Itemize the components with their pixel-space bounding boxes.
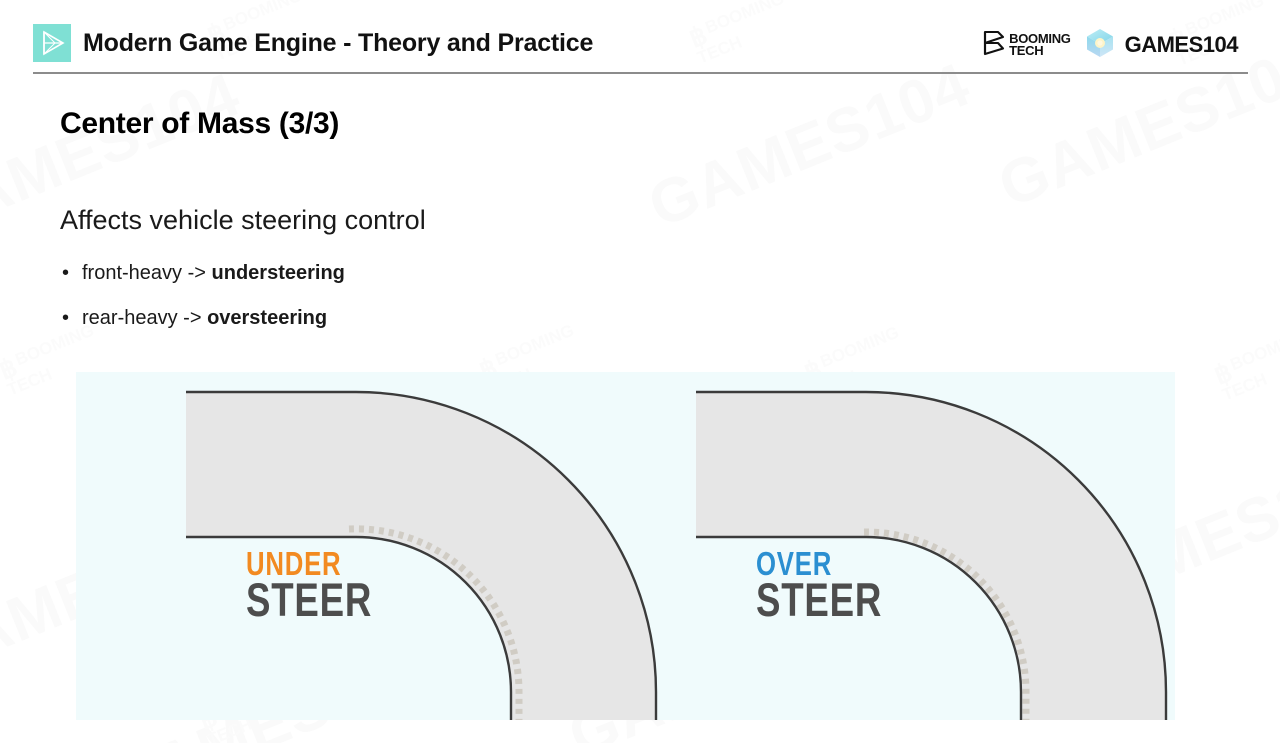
bullet-dot-icon: • [62, 308, 82, 328]
booming-tech-logo: BOOMING TECH [982, 30, 1070, 61]
games104-text: GAMES104 [1125, 32, 1238, 58]
brand-cluster: BOOMING TECH [982, 28, 1238, 62]
understeer-label: UNDER STEER [246, 550, 408, 619]
watermark-booming-mark: ฿ [0, 354, 21, 383]
list-item: • front-heavy -> understeering [62, 262, 345, 285]
watermark-games104: GAMES104 [639, 49, 980, 242]
slide-header: Modern Game Engine - Theory and Practice… [0, 0, 1280, 78]
watermark-booming-lines: BOOMINGTECH [1220, 326, 1280, 405]
list-item: • rear-heavy -> oversteering [62, 307, 345, 330]
oversteer-label: OVER STEER [756, 550, 918, 619]
list-item-text: front-heavy -> understeering [82, 262, 345, 285]
bullet-list: • front-heavy -> understeering • rear-he… [62, 262, 345, 352]
header-divider [33, 72, 1248, 74]
list-item-text: rear-heavy -> oversteering [82, 307, 327, 330]
page-title: Center of Mass (3/3) [60, 107, 339, 141]
watermark-booming-tech: ฿BOOMINGTECH [1211, 327, 1280, 403]
list-item-emphasis: oversteering [207, 307, 327, 329]
lead-paragraph: Affects vehicle steering control [60, 205, 426, 236]
understeer-diagram: UNDER STEER [186, 372, 666, 720]
oversteer-label-bottom: STEER [756, 580, 882, 619]
booming-line-2: TECH [1009, 45, 1070, 57]
steering-figure-panel: UNDER STEER OVER STEER [76, 372, 1175, 720]
brand-mark-logo [33, 24, 71, 62]
watermark-booming-mark: ฿ [1211, 359, 1236, 388]
understeer-label-bottom: STEER [246, 580, 372, 619]
games104-cube-icon [1084, 27, 1116, 64]
games104-wordmark: GAMES104 [1125, 32, 1238, 58]
oversteer-diagram: OVER STEER [696, 372, 1176, 720]
play-triangle-icon [33, 24, 71, 62]
booming-b-monogram-icon [982, 30, 1006, 61]
booming-tech-wordmark: BOOMING TECH [1009, 33, 1070, 57]
list-item-emphasis: understeering [212, 262, 345, 284]
header-title: Modern Game Engine - Theory and Practice [83, 29, 593, 58]
bullet-dot-icon: • [62, 263, 82, 283]
